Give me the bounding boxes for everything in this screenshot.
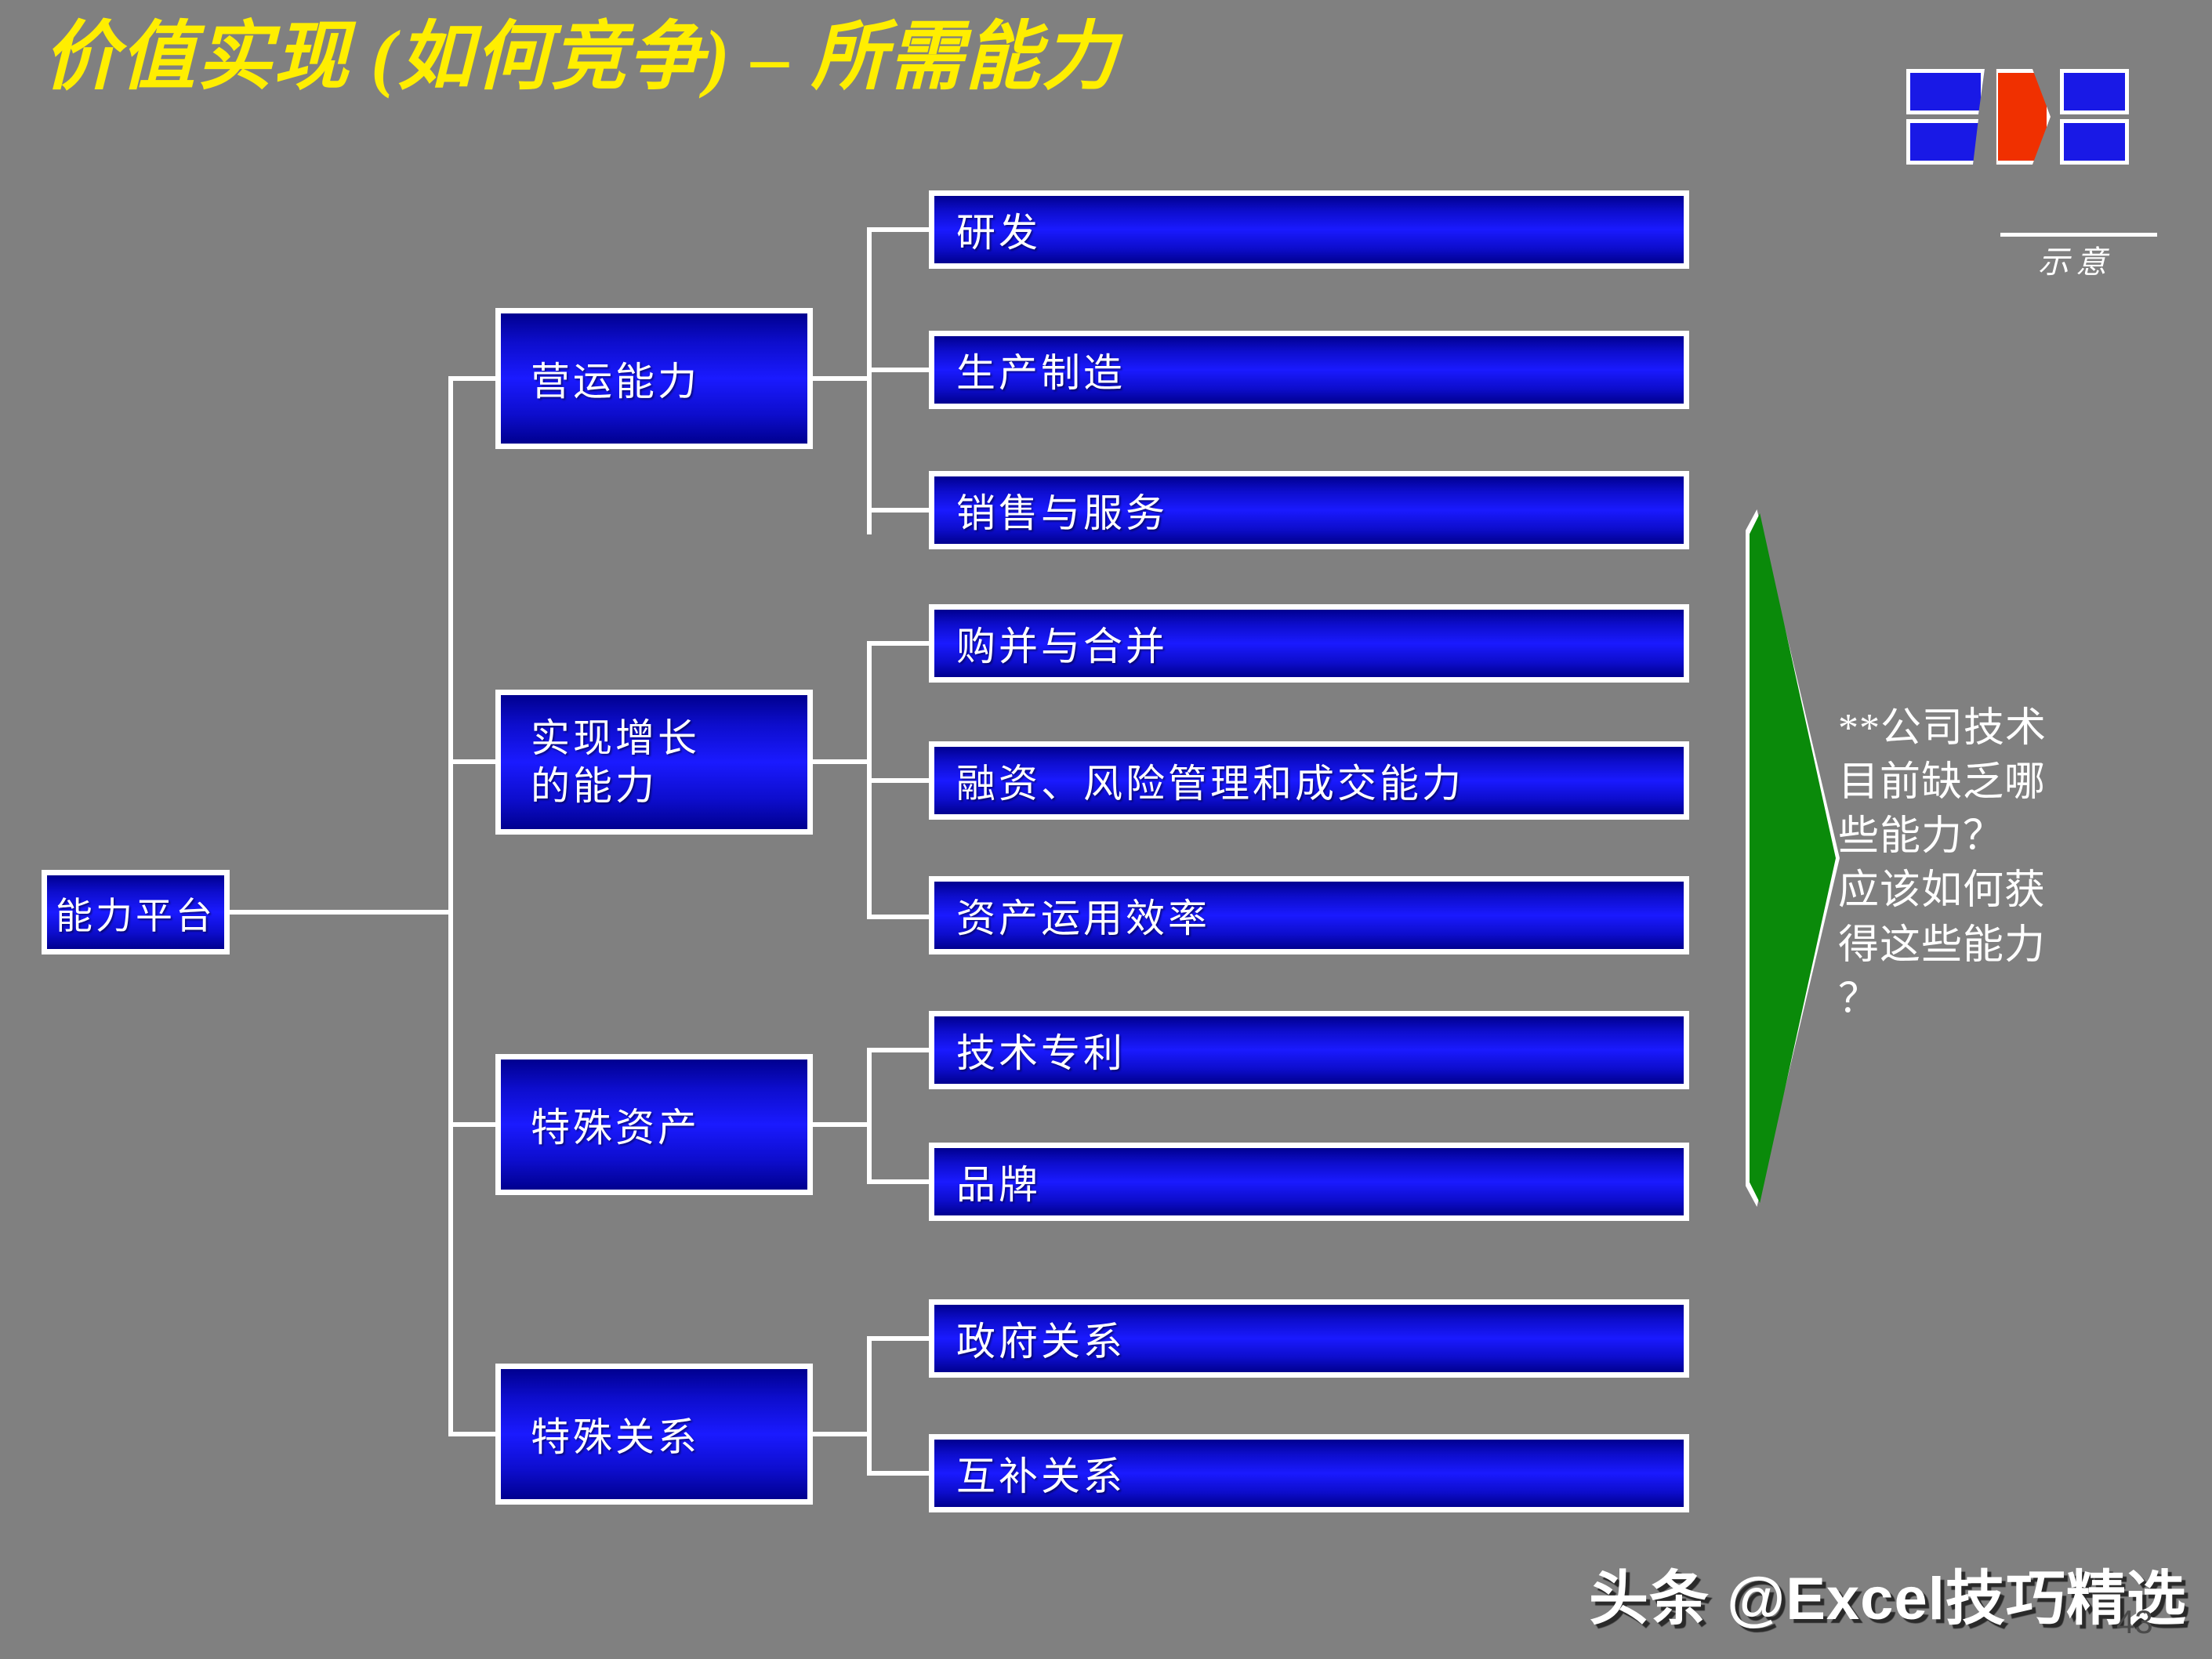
node-label: 营运能力 [531, 350, 700, 407]
node-branch-operations[interactable]: 营运能力 [495, 308, 813, 449]
connector-branch-2-stub [809, 759, 872, 764]
slide-canvas: 价值实现 (如何竞争) – 所需能力 示意 能力平台 营运能力 [0, 0, 2212, 1659]
logo-arrow-icon [1994, 69, 2051, 165]
connector-group-4-leaf-2 [867, 1471, 934, 1476]
page-number: 43 [2116, 1603, 2153, 1641]
connector-group-2-leaf-3 [867, 915, 934, 919]
connector-group-2-leaf-2 [867, 778, 934, 783]
node-leaf-financing-risk[interactable]: 融资、风险管理和成交能力 [929, 741, 1689, 820]
node-branch-growth[interactable]: 实现增长 的能力 [495, 690, 813, 835]
node-branch-special-assets[interactable]: 特殊资产 [495, 1054, 813, 1195]
node-label: 政府关系 [956, 1310, 1126, 1367]
connector-group-4-trunk [867, 1336, 872, 1473]
company-logo [1906, 69, 2141, 163]
logo-square-top-left [1906, 69, 1985, 114]
logo-caption: 示意 [2038, 237, 2113, 282]
node-label: 资产运用效率 [956, 887, 1210, 944]
node-leaf-sales-service[interactable]: 销售与服务 [929, 471, 1689, 549]
node-leaf-patents[interactable]: 技术专利 [929, 1011, 1689, 1089]
connector-branch-4-stub [809, 1432, 872, 1436]
node-leaf-government-relations[interactable]: 政府关系 [929, 1299, 1689, 1378]
connector-group-1-trunk [867, 227, 872, 534]
connector-branch-1-stub [809, 376, 872, 381]
green-arrow-icon [1750, 513, 1836, 1203]
connector-trunk-to-branch-1 [448, 376, 500, 381]
connector-group-4-leaf-1 [867, 1336, 934, 1341]
connector-main-trunk [448, 379, 453, 1436]
node-leaf-manufacturing[interactable]: 生产制造 [929, 331, 1689, 409]
connector-trunk-to-branch-3 [448, 1122, 500, 1127]
node-label: 互补关系 [956, 1445, 1126, 1501]
logo-square-top-right [2060, 69, 2129, 114]
node-leaf-rnd[interactable]: 研发 [929, 190, 1689, 269]
connector-group-3-leaf-2 [867, 1179, 934, 1184]
logo-square-bottom-right [2060, 119, 2129, 165]
node-leaf-asset-efficiency[interactable]: 资产运用效率 [929, 876, 1689, 954]
node-label: 特殊资产 [531, 1096, 700, 1153]
node-label: 特殊关系 [531, 1406, 700, 1462]
page-title: 价值实现 (如何竞争) – 所需能力 [43, 14, 1119, 100]
node-label: 能力平台 [56, 886, 216, 940]
connector-group-1-leaf-3 [867, 508, 934, 513]
node-leaf-brand[interactable]: 品牌 [929, 1143, 1689, 1221]
connector-group-1-leaf-2 [867, 368, 934, 372]
connector-root-stub [230, 910, 453, 915]
node-capability-platform[interactable]: 能力平台 [42, 870, 230, 954]
connector-group-3-trunk [867, 1048, 872, 1182]
node-label: 销售与服务 [956, 482, 1168, 538]
connector-group-1-leaf-1 [867, 227, 934, 232]
node-branch-special-relations[interactable]: 特殊关系 [495, 1364, 813, 1505]
node-label: 品牌 [956, 1154, 1041, 1210]
node-leaf-complementary-relations[interactable]: 互补关系 [929, 1434, 1689, 1512]
callout-question-text: **公司技术 目前缺乏哪 些能力？ 应该如何获 得这些能力 ？ [1838, 701, 2152, 1027]
connector-trunk-to-branch-4 [448, 1432, 500, 1436]
node-label: 研发 [956, 201, 1041, 258]
logo-square-bottom-left [1906, 119, 1985, 165]
connector-group-3-leaf-1 [867, 1048, 934, 1052]
node-label: 融资、风险管理和成交能力 [956, 752, 1464, 809]
watermark: 头条 @Excel技巧精选 [1589, 1550, 2187, 1636]
node-label: 购并与合并 [956, 615, 1168, 672]
node-leaf-ma[interactable]: 购并与合并 [929, 604, 1689, 683]
connector-trunk-to-branch-2 [448, 759, 500, 764]
node-label: 技术专利 [956, 1022, 1126, 1078]
node-label: 实现增长 的能力 [531, 715, 700, 810]
connector-group-2-leaf-1 [867, 641, 934, 646]
node-label: 生产制造 [956, 342, 1126, 398]
connector-branch-3-stub [809, 1122, 872, 1127]
